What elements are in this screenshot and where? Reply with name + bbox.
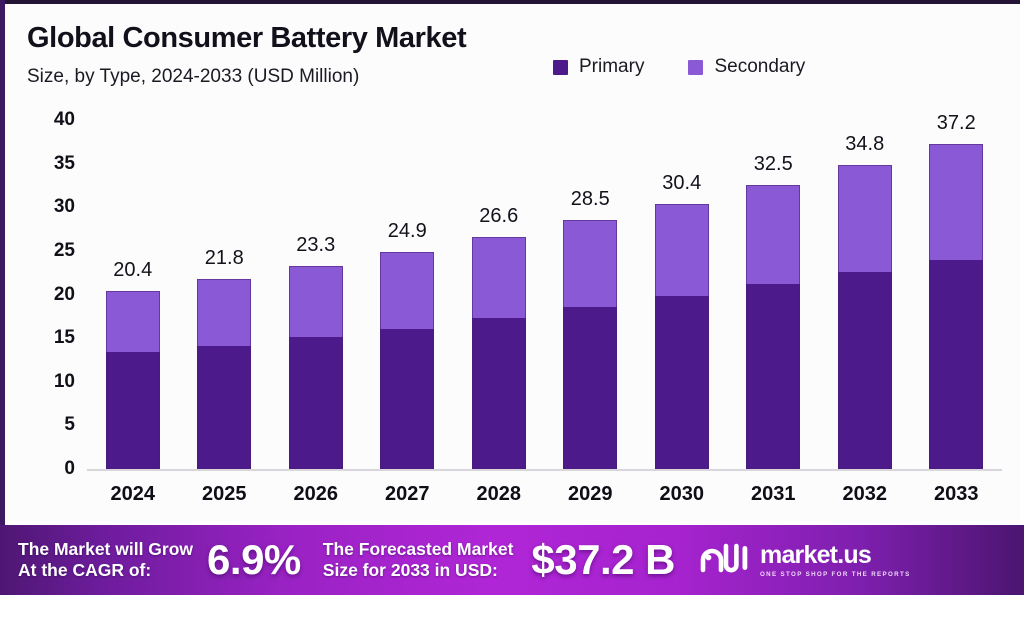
bar-group[interactable] bbox=[655, 204, 709, 469]
y-axis-tick: 20 bbox=[54, 284, 75, 306]
bar-segment-secondary[interactable] bbox=[563, 220, 617, 306]
forecast-caption-line1: The Forecasted Market bbox=[323, 539, 514, 560]
cagr-caption-line2: At the CAGR of: bbox=[18, 560, 193, 581]
bar-total-label: 26.6 bbox=[479, 205, 518, 228]
y-axis-tick: 25 bbox=[54, 240, 75, 262]
y-axis-tick: 40 bbox=[54, 109, 75, 131]
frame-bottom-border bbox=[0, 595, 1024, 619]
bar-group[interactable] bbox=[289, 266, 343, 469]
chart-title: Global Consumer Battery Market bbox=[27, 22, 466, 55]
cagr-caption-line1: The Market will Grow bbox=[18, 539, 193, 560]
bar-total-label: 21.8 bbox=[205, 247, 244, 270]
y-axis-tick: 35 bbox=[54, 153, 75, 175]
y-axis-tick: 0 bbox=[64, 458, 75, 480]
bar-segment-secondary[interactable] bbox=[929, 144, 983, 259]
x-axis-tick: 2033 bbox=[934, 483, 979, 506]
bar-group[interactable] bbox=[380, 252, 434, 469]
bar-total-label: 37.2 bbox=[937, 112, 976, 135]
bar-segment-secondary[interactable] bbox=[746, 185, 800, 284]
bar-total-label: 28.5 bbox=[571, 188, 610, 211]
bar-segment-secondary[interactable] bbox=[106, 291, 160, 352]
market-us-logo-text: market.us ONE STOP SHOP FOR THE REPORTS bbox=[760, 543, 911, 578]
legend-label-primary: Primary bbox=[579, 56, 644, 78]
cagr-value: 6.9% bbox=[207, 536, 301, 584]
bar-group[interactable] bbox=[838, 165, 892, 469]
bar-total-label: 20.4 bbox=[113, 259, 152, 282]
y-axis-tick: 5 bbox=[64, 414, 75, 436]
market-us-logo[interactable]: market.us ONE STOP SHOP FOR THE REPORTS bbox=[699, 543, 911, 578]
bar-group[interactable] bbox=[472, 237, 526, 469]
y-axis-tick: 30 bbox=[54, 196, 75, 218]
bar-segment-primary[interactable] bbox=[929, 260, 983, 469]
x-axis-tick: 2025 bbox=[202, 483, 247, 506]
summary-banner: The Market will Grow At the CAGR of: 6.9… bbox=[0, 525, 1024, 595]
bar-group[interactable] bbox=[929, 144, 983, 469]
bar-group[interactable] bbox=[563, 220, 617, 469]
plot-area: 20.421.823.324.926.628.530.432.534.837.2 bbox=[87, 120, 1002, 469]
x-axis-tick: 2032 bbox=[843, 483, 888, 506]
bar-segment-primary[interactable] bbox=[746, 284, 800, 469]
bar-segment-secondary[interactable] bbox=[197, 279, 251, 346]
market-us-logo-word: market.us bbox=[760, 543, 911, 568]
bar-segment-primary[interactable] bbox=[655, 296, 709, 469]
bar-segment-secondary[interactable] bbox=[289, 266, 343, 338]
frame-right-border bbox=[1020, 0, 1024, 560]
market-us-logo-icon bbox=[699, 543, 751, 578]
chart-card: Global Consumer Battery Market Size, by … bbox=[5, 4, 1020, 521]
bar-segment-primary[interactable] bbox=[838, 272, 892, 469]
x-axis-baseline bbox=[87, 469, 1002, 471]
bar-segment-primary[interactable] bbox=[106, 352, 160, 469]
x-axis-tick: 2024 bbox=[111, 483, 156, 506]
bar-segment-primary[interactable] bbox=[197, 346, 251, 469]
bar-group[interactable] bbox=[106, 291, 160, 469]
bar-segment-secondary[interactable] bbox=[838, 165, 892, 271]
cagr-caption: The Market will Grow At the CAGR of: bbox=[18, 539, 193, 580]
legend-swatch-primary bbox=[553, 60, 568, 75]
legend-item-secondary[interactable]: Secondary bbox=[688, 56, 805, 78]
bar-segment-primary[interactable] bbox=[289, 337, 343, 469]
cagr-block: The Market will Grow At the CAGR of: 6.9… bbox=[18, 536, 301, 584]
infographic-root: Global Consumer Battery Market Size, by … bbox=[0, 0, 1024, 619]
x-axis-tick: 2026 bbox=[294, 483, 339, 506]
y-axis-tick: 10 bbox=[54, 371, 75, 393]
bar-total-label: 30.4 bbox=[662, 172, 701, 195]
bar-segment-secondary[interactable] bbox=[655, 204, 709, 296]
bar-segment-primary[interactable] bbox=[563, 307, 617, 469]
chart-legend: Primary Secondary bbox=[553, 56, 805, 78]
legend-label-secondary: Secondary bbox=[714, 56, 805, 78]
bar-segment-secondary[interactable] bbox=[380, 252, 434, 329]
bar-total-label: 24.9 bbox=[388, 220, 427, 243]
legend-item-primary[interactable]: Primary bbox=[553, 56, 644, 78]
market-us-logo-tagline: ONE STOP SHOP FOR THE REPORTS bbox=[760, 571, 911, 578]
legend-swatch-secondary bbox=[688, 60, 703, 75]
bar-segment-primary[interactable] bbox=[472, 318, 526, 469]
forecast-caption: The Forecasted Market Size for 2033 in U… bbox=[323, 539, 514, 580]
x-axis-tick: 2029 bbox=[568, 483, 613, 506]
bar-total-label: 23.3 bbox=[296, 234, 335, 257]
forecast-caption-line2: Size for 2033 in USD: bbox=[323, 560, 514, 581]
x-axis-tick: 2030 bbox=[660, 483, 705, 506]
bar-group[interactable] bbox=[746, 185, 800, 469]
x-axis-tick: 2027 bbox=[385, 483, 430, 506]
chart-subtitle: Size, by Type, 2024-2033 (USD Million) bbox=[27, 66, 359, 88]
y-axis-tick: 15 bbox=[54, 327, 75, 349]
bar-total-label: 34.8 bbox=[845, 133, 884, 156]
x-axis-tick: 2028 bbox=[477, 483, 522, 506]
bar-segment-secondary[interactable] bbox=[472, 237, 526, 318]
forecast-value: $37.2 B bbox=[531, 536, 675, 584]
bar-total-label: 32.5 bbox=[754, 153, 793, 176]
bar-group[interactable] bbox=[197, 279, 251, 469]
forecast-block: The Forecasted Market Size for 2033 in U… bbox=[323, 536, 675, 584]
x-axis-tick: 2031 bbox=[751, 483, 796, 506]
bar-segment-primary[interactable] bbox=[380, 329, 434, 469]
y-axis: 4035302520151050 bbox=[27, 120, 75, 469]
